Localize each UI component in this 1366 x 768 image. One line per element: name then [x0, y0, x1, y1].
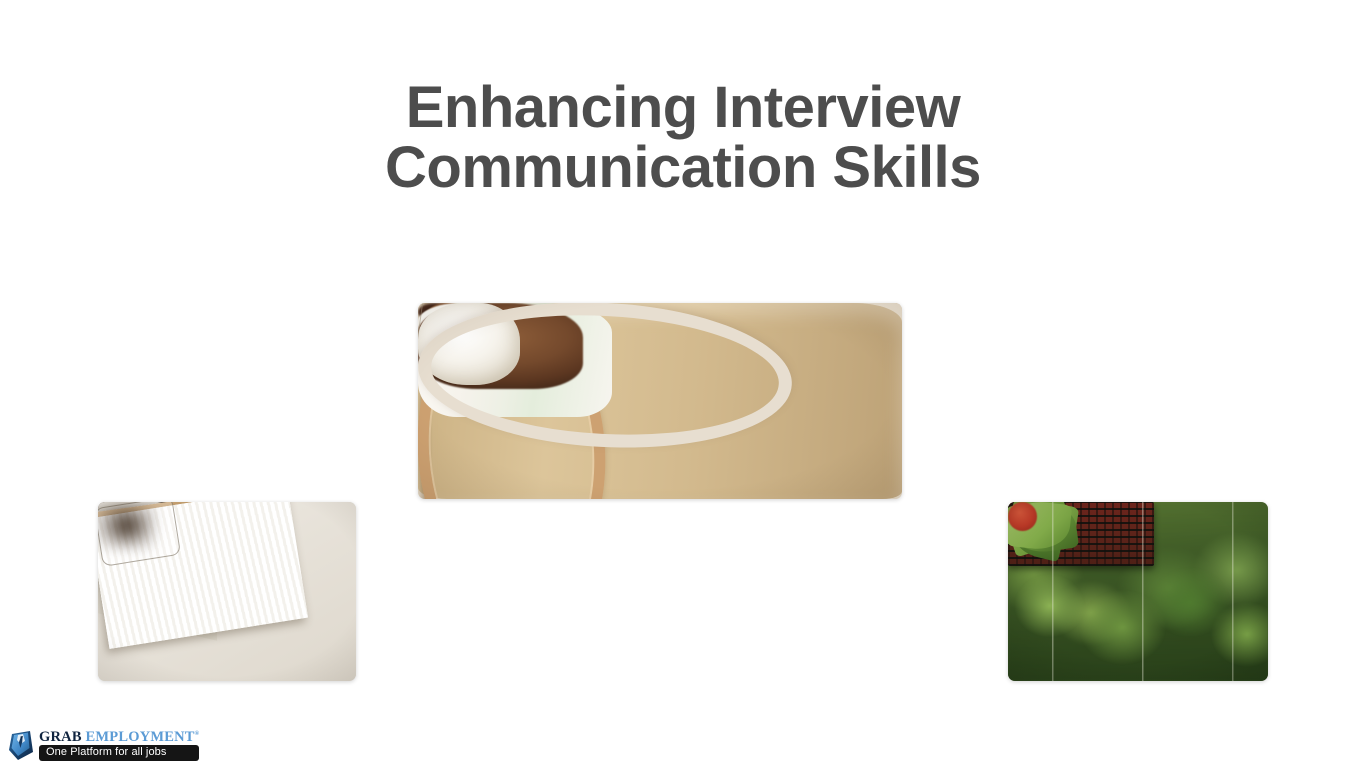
grab-employment-logo-icon: [6, 728, 36, 762]
photo-vignette: [98, 502, 356, 681]
logo-brand-grab: GRAB: [39, 729, 82, 745]
page-title-text: Enhancing Interview Communication Skills: [341, 78, 1025, 197]
logo-wordmark: GRAB EMPLOYMENT® One Platform for all jo…: [39, 729, 199, 761]
slide-canvas: Enhancing Interview Communication Skills: [0, 0, 1366, 768]
photo-vignette: [1008, 502, 1268, 681]
page-title: Enhancing Interview Communication Skills: [341, 78, 1025, 197]
photo-vignette: [418, 303, 902, 499]
photo-greenhouse-crops: [1008, 502, 1268, 681]
logo-trademark-symbol: ®: [195, 731, 200, 737]
logo-brand-employment: EMPLOYMENT: [86, 729, 195, 745]
photo-cardboard-packaging: [98, 502, 356, 681]
logo-brand-line: GRAB EMPLOYMENT®: [39, 730, 199, 745]
photo-children-hanging-chair: [418, 303, 902, 499]
brand-logo[interactable]: GRAB EMPLOYMENT® One Platform for all jo…: [6, 724, 182, 766]
logo-tagline: One Platform for all jobs: [39, 745, 199, 761]
